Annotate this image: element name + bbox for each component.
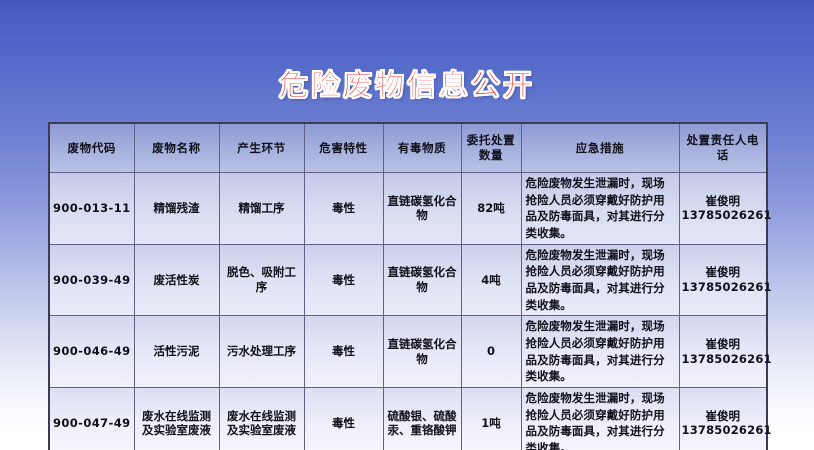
cell-generation-stage: 脱色、吸附工序 [219, 244, 304, 316]
table-row: 900-046-49 活性污泥 污水处理工序 毒性 直链碳氢化合物 0 危险废物… [49, 316, 767, 388]
cell-responsible-contact: 崔俊明 13785026261 [679, 244, 767, 316]
cell-disposal-amount: 4吨 [461, 244, 521, 316]
cell-hazard-property: 毒性 [304, 244, 383, 316]
cell-emergency-measure: 危险废物发生泄漏时，现场抢险人员必须穿戴好防护用品及防毒面具，对其进行分类收集。 [521, 173, 679, 245]
table-row: 900-047-49 废水在线监测及实验室废液 废水在线监测及实验室废液 毒性 … [49, 388, 767, 450]
page-title: 危险废物信息公开 [279, 62, 535, 104]
contact-phone-number: 13785026261 [682, 208, 765, 223]
table-row: 900-013-11 精馏残渣 精馏工序 毒性 直链碳氢化合物 82吨 危险废物… [49, 173, 767, 245]
cell-generation-stage: 精馏工序 [219, 173, 304, 245]
column-header-waste-code: 废物代码 [49, 123, 134, 173]
cell-disposal-amount: 82吨 [461, 173, 521, 245]
cell-responsible-contact: 崔俊明 13785026261 [679, 316, 767, 388]
cell-toxic-substance: 硫酸银、硫酸汞、重铬酸钾 [383, 388, 461, 450]
contact-person-name: 崔俊明 [682, 194, 765, 209]
cell-waste-code: 900-013-11 [49, 173, 134, 245]
cell-generation-stage: 污水处理工序 [219, 316, 304, 388]
contact-phone-number: 13785026261 [682, 423, 765, 438]
cell-waste-name: 废活性炭 [134, 244, 219, 316]
hazardous-waste-table: 废物代码 废物名称 产生环节 危害特性 有毒物质 委托处置数量 应急措施 处置责… [48, 122, 768, 450]
slide-canvas: 危险废物信息公开 废物代码 废物名称 产生环节 危害特性 有毒物质 委托处置数量… [0, 0, 814, 450]
title-container: 危险废物信息公开 [0, 62, 814, 104]
cell-hazard-property: 毒性 [304, 316, 383, 388]
contact-person-name: 崔俊明 [682, 265, 765, 280]
cell-toxic-substance: 直链碳氢化合物 [383, 316, 461, 388]
cell-disposal-amount: 1吨 [461, 388, 521, 450]
column-header-waste-name: 废物名称 [134, 123, 219, 173]
table-header-row: 废物代码 废物名称 产生环节 危害特性 有毒物质 委托处置数量 应急措施 处置责… [49, 123, 767, 173]
column-header-responsible-phone: 处置责任人电话 [679, 123, 767, 173]
table-row: 900-039-49 废活性炭 脱色、吸附工序 毒性 直链碳氢化合物 4吨 危险… [49, 244, 767, 316]
cell-waste-name: 精馏残渣 [134, 173, 219, 245]
contact-person-name: 崔俊明 [682, 409, 765, 424]
cell-responsible-contact: 崔俊明 13785026261 [679, 173, 767, 245]
cell-emergency-measure: 危险废物发生泄漏时，现场抢险人员必须穿戴好防护用品及防毒面具，对其进行分类收集。 [521, 316, 679, 388]
contact-phone-number: 13785026261 [682, 280, 765, 295]
contact-phone-number: 13785026261 [682, 352, 765, 367]
cell-responsible-contact: 崔俊明 13785026261 [679, 388, 767, 450]
column-header-emergency-measure: 应急措施 [521, 123, 679, 173]
cell-disposal-amount: 0 [461, 316, 521, 388]
contact-person-name: 崔俊明 [682, 337, 765, 352]
cell-waste-code: 900-039-49 [49, 244, 134, 316]
cell-waste-code: 900-046-49 [49, 316, 134, 388]
waste-table-container: 废物代码 废物名称 产生环节 危害特性 有毒物质 委托处置数量 应急措施 处置责… [48, 122, 766, 450]
column-header-toxic-substance: 有毒物质 [383, 123, 461, 173]
cell-generation-stage: 废水在线监测及实验室废液 [219, 388, 304, 450]
column-header-hazard-property: 危害特性 [304, 123, 383, 173]
cell-waste-code: 900-047-49 [49, 388, 134, 450]
cell-toxic-substance: 直链碳氢化合物 [383, 173, 461, 245]
cell-toxic-substance: 直链碳氢化合物 [383, 244, 461, 316]
cell-emergency-measure: 危险废物发生泄漏时，现场抢险人员必须穿戴好防护用品及防毒面具，对其进行分类收集。 [521, 244, 679, 316]
column-header-disposal-amount: 委托处置数量 [461, 123, 521, 173]
cell-emergency-measure: 危险废物发生泄漏时，现场抢险人员必须穿戴好防护用品及防毒面具，对其进行分类收集。 [521, 388, 679, 450]
column-header-generation-stage: 产生环节 [219, 123, 304, 173]
cell-hazard-property: 毒性 [304, 388, 383, 450]
cell-waste-name: 活性污泥 [134, 316, 219, 388]
cell-hazard-property: 毒性 [304, 173, 383, 245]
cell-waste-name: 废水在线监测及实验室废液 [134, 388, 219, 450]
